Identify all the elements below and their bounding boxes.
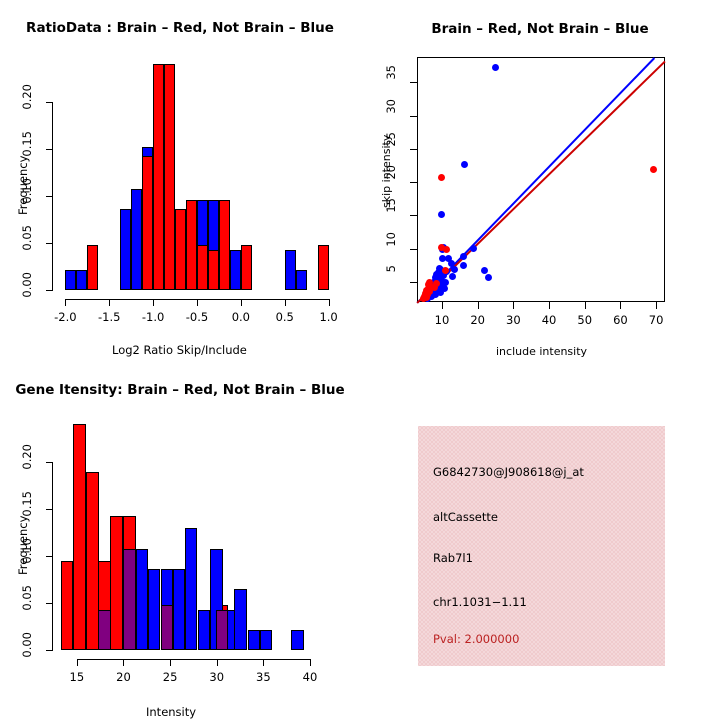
x-axis-tick-label: 20 <box>101 670 145 684</box>
gene-histogram-panel: Gene Itensity: Brain – Red, Not Brain – … <box>0 360 360 720</box>
histogram-bar <box>161 605 173 650</box>
x-axis-tick <box>109 299 110 306</box>
y-axis-tick-label: 0.15 <box>9 131 45 167</box>
histogram-bar <box>110 516 122 650</box>
scatter-point <box>470 245 477 252</box>
y-axis-tick-label: 0.05 <box>9 225 45 261</box>
histogram-bar <box>136 549 148 650</box>
x-axis-tick-label: 70 <box>636 313 676 327</box>
histogram-bar <box>131 189 142 290</box>
x-axis-tick <box>585 302 586 309</box>
y-axis-tick <box>410 215 417 216</box>
x-axis-tick <box>241 299 242 306</box>
x-axis-tick <box>620 302 621 309</box>
x-axis-tick-label: 0.5 <box>263 310 307 324</box>
y-axis-tick-label: 30 <box>373 99 409 133</box>
histogram-bar <box>65 270 76 290</box>
x-axis-tick-label: 20 <box>458 313 498 327</box>
histogram-bar <box>123 549 135 650</box>
x-axis-tick <box>442 302 443 309</box>
x-axis-tick-label: -2.0 <box>43 310 87 324</box>
scatter-point <box>443 246 450 253</box>
x-axis-tick <box>77 659 78 666</box>
y-axis-tick <box>46 290 53 291</box>
y-axis-tick-label: 10 <box>373 232 409 266</box>
histogram-bar <box>248 630 260 650</box>
y-axis-tick <box>410 182 417 183</box>
info-panel-background <box>418 426 665 666</box>
histogram-bar <box>216 610 228 650</box>
histogram-bar <box>87 245 98 290</box>
histogram-bar <box>234 589 246 650</box>
x-axis-tick <box>153 299 154 306</box>
histogram-bar <box>260 630 272 650</box>
y-axis-tick <box>410 116 417 117</box>
x-axis-tick-label: -0.5 <box>175 310 219 324</box>
intensity-scatter-panel: Brain – Red, Not Brain – Blue skip inten… <box>360 0 720 360</box>
y-axis-tick <box>46 462 53 463</box>
y-axis-tick-label: 5 <box>373 265 409 299</box>
y-axis-tick-label: 0.05 <box>9 585 45 621</box>
y-axis-tick-label: 0.10 <box>9 178 45 214</box>
x-axis-tick-label: 10 <box>422 313 462 327</box>
y-axis-tick-label: 0.00 <box>9 272 45 308</box>
scatter-point <box>485 274 492 281</box>
scatter-point <box>460 253 467 260</box>
x-axis-tick-label: 35 <box>241 670 285 684</box>
histogram-bar <box>197 245 208 290</box>
x-axis-tick-label: 0.0 <box>219 310 263 324</box>
x-axis-tick <box>310 659 311 666</box>
histogram-bar <box>291 630 303 650</box>
histogram-bar <box>230 250 241 290</box>
x-axis-tick <box>65 299 66 306</box>
gene-info-panel: G6842730@J908618@j_at altCassette Rab7l1… <box>360 360 720 720</box>
x-axis-tick <box>549 302 550 309</box>
scatter-point <box>481 267 488 274</box>
y-axis-tick-label: 20 <box>373 165 409 199</box>
y-axis-tick <box>410 82 417 83</box>
x-axis-tick <box>478 302 479 309</box>
x-axis-tick <box>656 302 657 309</box>
x-axis-tick-label: 1.0 <box>307 310 351 324</box>
y-axis-tick <box>46 149 53 150</box>
histogram-bar <box>76 270 87 290</box>
histogram-bar <box>185 528 197 650</box>
histogram-bar <box>61 561 73 650</box>
y-axis-tick <box>410 249 417 250</box>
histogram-bar <box>318 245 329 290</box>
y-axis-tick <box>46 102 53 103</box>
y-axis-tick-label: 0.20 <box>9 444 45 480</box>
x-axis-tick-label: 15 <box>55 670 99 684</box>
x-axis-tick <box>170 659 171 666</box>
y-axis-tick-label: 0.10 <box>9 538 45 574</box>
x-axis-tick-label: 50 <box>565 313 605 327</box>
y-axis-tick <box>46 603 53 604</box>
histogram-bar <box>153 64 164 290</box>
y-axis-tick <box>410 282 417 283</box>
histogram-bar <box>285 250 296 290</box>
x-axis-tick-label: 30 <box>493 313 533 327</box>
x-axis-tick <box>263 659 264 666</box>
histogram-bar <box>142 156 153 290</box>
histogram-bar <box>186 200 197 290</box>
scatter-point <box>439 255 446 262</box>
y-axis-tick <box>46 509 53 510</box>
gene-histogram-plot-area: 0.000.050.100.150.20152025303540 <box>0 360 360 720</box>
histogram-bar <box>296 270 307 290</box>
x-axis-tick-label: -1.0 <box>131 310 175 324</box>
y-axis-tick-label: 25 <box>373 132 409 166</box>
y-axis-tick <box>46 556 53 557</box>
histogram-bar <box>175 209 186 290</box>
histogram-bar <box>148 569 160 650</box>
histogram-bar <box>241 245 252 290</box>
x-axis-tick-label: 25 <box>148 670 192 684</box>
scatter-point <box>451 266 458 273</box>
y-axis-tick-label: 0.15 <box>9 491 45 527</box>
x-axis-tick <box>285 299 286 306</box>
x-axis-tick <box>217 659 218 666</box>
y-axis-tick <box>46 650 53 651</box>
histogram-bar <box>208 250 219 290</box>
x-axis-tick-label: 40 <box>529 313 569 327</box>
info-locus: chr1.1031−1.11 <box>433 595 527 609</box>
ratio-histogram-plot-area: 0.000.050.100.150.20-2.0-1.5-1.0-0.50.00… <box>0 0 360 360</box>
histogram-bar <box>86 472 98 650</box>
info-event-type: altCassette <box>433 510 498 524</box>
x-axis-tick <box>197 299 198 306</box>
info-gene-symbol: Rab7l1 <box>433 551 473 565</box>
y-axis-tick <box>410 149 417 150</box>
x-axis-tick <box>329 299 330 306</box>
x-axis-tick-label: 60 <box>600 313 640 327</box>
y-axis-tick-label: 0.00 <box>9 632 45 668</box>
y-axis-tick <box>46 196 53 197</box>
y-axis-tick-label: 15 <box>373 198 409 232</box>
histogram-bar <box>164 64 175 290</box>
histogram-bar <box>98 610 110 650</box>
intensity-scatter-plot-area: 510152025303510203040506070 <box>360 0 720 360</box>
y-axis-tick-label: 35 <box>373 65 409 99</box>
scatter-point <box>442 267 449 274</box>
histogram-bar <box>73 424 85 650</box>
x-axis-tick-label: -1.5 <box>87 310 131 324</box>
histogram-bar <box>173 569 185 650</box>
scatter-point <box>431 284 438 291</box>
x-axis-tick <box>123 659 124 666</box>
x-axis-line <box>77 659 310 660</box>
scatter-point <box>449 273 456 280</box>
x-axis-tick-label: 40 <box>288 670 332 684</box>
histogram-bar <box>120 209 131 290</box>
info-pvalue: Pval: 2.000000 <box>433 632 519 646</box>
scatter-point <box>460 262 467 269</box>
x-axis-tick <box>513 302 514 309</box>
histogram-bar <box>198 610 210 650</box>
y-axis-tick-label: 0.20 <box>9 84 45 120</box>
x-axis-tick-label: 30 <box>195 670 239 684</box>
ratio-histogram-panel: RatioData : Brain – Red, Not Brain – Blu… <box>0 0 360 360</box>
y-axis-tick <box>46 243 53 244</box>
info-probe-id: G6842730@J908618@j_at <box>433 465 584 479</box>
histogram-bar <box>219 200 230 290</box>
